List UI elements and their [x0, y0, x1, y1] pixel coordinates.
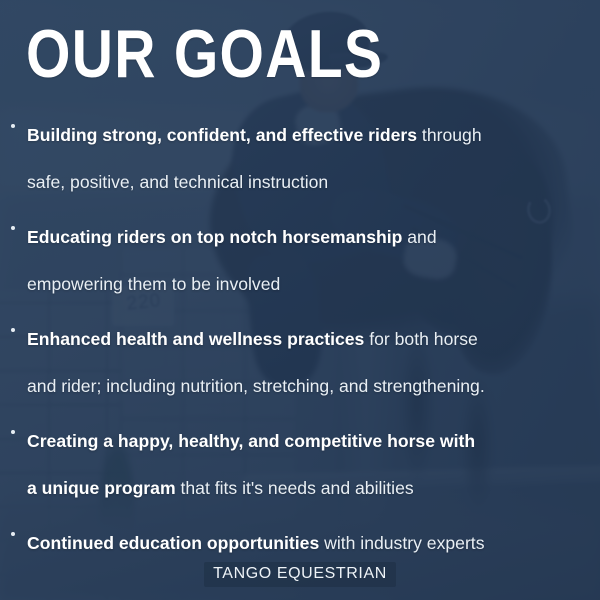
goal-regular-text-2: and rider; including nutrition, stretchi… — [27, 376, 485, 396]
goal-line-primary: Enhanced health and wellness practices f… — [27, 316, 600, 363]
goal-regular-text: and — [402, 227, 436, 247]
goal-regular-text-2: safe, positive, and technical instructio… — [27, 172, 328, 192]
caption-container: TANGO EQUESTRIAN — [0, 562, 600, 587]
goal-line-primary: Building strong, confident, and effectiv… — [27, 112, 600, 159]
goals-list: Building strong, confident, and effectiv… — [0, 112, 600, 575]
poster-content: OUR GOALS Building strong, confident, an… — [0, 0, 600, 600]
bullet-dot-icon — [11, 124, 15, 128]
brand-caption: TANGO EQUESTRIAN — [204, 562, 396, 587]
page-title: OUR GOALS — [26, 17, 383, 91]
goal-regular-text-2: that fits it's needs and abilities — [176, 478, 414, 498]
bullet-dot-icon — [11, 226, 15, 230]
goal-regular-text: for both horse — [364, 329, 477, 349]
goal-bold-text: Continued education opportunities — [27, 533, 319, 553]
goal-bold-text: Building strong, confident, and effectiv… — [27, 125, 417, 145]
list-item: Enhanced health and wellness practices f… — [0, 316, 600, 410]
goal-regular-text: through — [417, 125, 482, 145]
goal-line-secondary: a unique program that fits it's needs an… — [27, 465, 600, 512]
goal-bold-text-2: a unique program — [27, 478, 176, 498]
goal-regular-text: with industry experts — [319, 533, 484, 553]
goal-line-secondary: empowering them to be involved — [27, 261, 600, 308]
goal-bold-text: Enhanced health and wellness practices — [27, 329, 364, 349]
goal-bold-text: Creating a happy, healthy, and competiti… — [27, 431, 475, 451]
bullet-dot-icon — [11, 328, 15, 332]
goals-poster: 220 OUR GOALS Building strong, conf — [0, 0, 600, 600]
list-item: Building strong, confident, and effectiv… — [0, 112, 600, 206]
bullet-dot-icon — [11, 430, 15, 434]
goal-line-primary: Educating riders on top notch horsemansh… — [27, 214, 600, 261]
bullet-dot-icon — [11, 532, 15, 536]
goal-line-primary: Creating a happy, healthy, and competiti… — [27, 418, 600, 465]
list-item: Creating a happy, healthy, and competiti… — [0, 418, 600, 512]
goal-line-secondary: and rider; including nutrition, stretchi… — [27, 363, 600, 410]
goal-line-primary: Continued education opportunities with i… — [27, 520, 600, 567]
goal-line-secondary: safe, positive, and technical instructio… — [27, 159, 600, 206]
goal-bold-text: Educating riders on top notch horsemansh… — [27, 227, 402, 247]
list-item: Continued education opportunities with i… — [0, 520, 600, 567]
list-item: Educating riders on top notch horsemansh… — [0, 214, 600, 308]
goal-regular-text-2: empowering them to be involved — [27, 274, 280, 294]
